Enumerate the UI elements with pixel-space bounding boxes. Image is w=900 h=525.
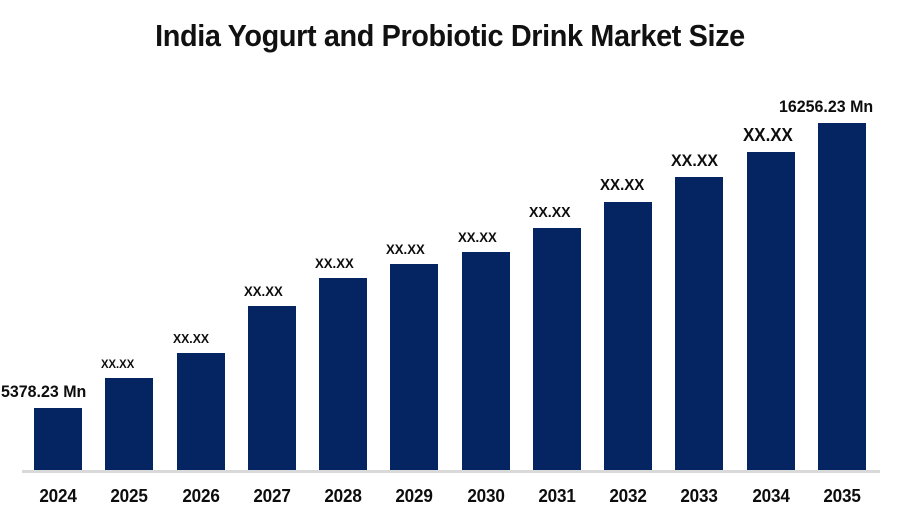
bar-value-label: XX.XX [671,152,718,169]
x-axis-label-2033: 2033 [666,486,733,507]
x-axis-label-2031: 2031 [524,486,591,507]
bar-value-label: 16256.23 Mn [779,98,873,115]
bar-value-label: XX.XX [743,126,793,144]
bar-value-label: XX.XX [101,358,134,370]
bar-value-label: 5378.23 Mn [1,383,86,400]
bar-value-label: XX.XX [244,284,283,298]
x-axis-label-2024: 2024 [25,486,92,507]
bar-value-label: XX.XX [386,242,425,256]
x-axis-label-2029: 2029 [381,486,448,507]
x-axis-label-2027: 2027 [239,486,306,507]
bar[interactable] [319,278,367,470]
bar[interactable] [390,264,438,470]
bar-value-label: XX.XX [529,205,571,220]
x-axis-label-2026: 2026 [167,486,234,507]
bar[interactable] [604,202,652,470]
plot-area: 5378.23 Mn2024XX.XX2025XX.XX2026XX.XX202… [0,0,900,525]
bar[interactable] [462,252,510,470]
bar-value-label: XX.XX [600,178,644,194]
x-axis-label-2034: 2034 [737,486,804,507]
x-axis-label-2032: 2032 [595,486,662,507]
bar[interactable] [177,353,225,470]
bar[interactable] [34,408,82,470]
x-axis-label-2025: 2025 [96,486,163,507]
bar[interactable] [533,228,581,470]
x-axis-label-2030: 2030 [452,486,519,507]
x-axis-label-2028: 2028 [310,486,377,507]
bar[interactable] [105,378,153,470]
bar-value-label: XX.XX [458,230,497,244]
chart-container: India Yogurt and Probiotic Drink Market … [0,0,900,525]
bar[interactable] [675,177,723,470]
bar[interactable] [747,152,795,470]
axis-baseline [22,470,880,473]
bar-value-label: XX.XX [315,256,354,270]
bar[interactable] [248,306,296,470]
x-axis-label-2035: 2035 [809,486,876,507]
bar[interactable] [818,123,866,470]
bar-value-label: XX.XX [173,332,209,345]
